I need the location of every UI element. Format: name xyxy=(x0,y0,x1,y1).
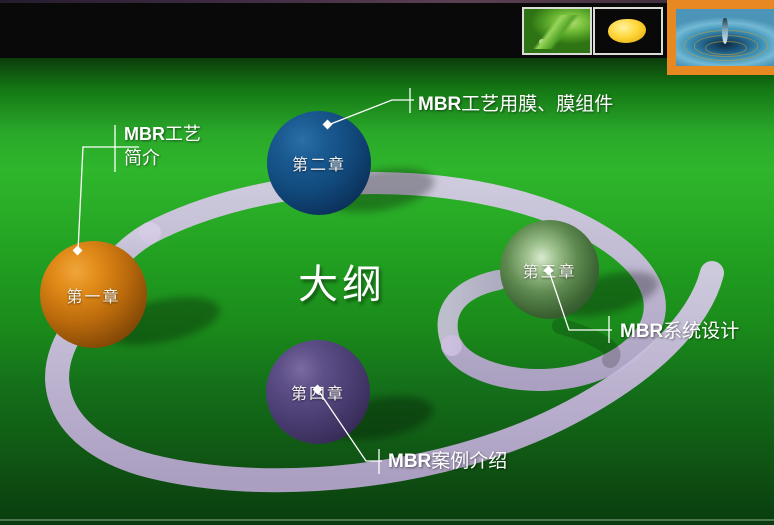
slide-canvas: 第一章 第二章 第三章 第四章 大纲 xyxy=(0,0,774,525)
water-photo-frame xyxy=(667,0,774,75)
callout-chapter-2-bold: MBR xyxy=(418,94,461,115)
green-leaf-icon xyxy=(524,9,590,53)
page-title: 大纲 xyxy=(298,252,386,310)
callout-chapter-1-rest: 工艺 xyxy=(165,124,201,145)
callout-chapter-2-rest: 工艺用膜、膜组件 xyxy=(461,93,613,115)
thumbnail-yellow-flower[interactable] xyxy=(593,7,663,55)
callout-connectors xyxy=(0,0,774,525)
thumbnail-green-leaf[interactable] xyxy=(522,7,592,55)
callout-chapter-4-bold: MBR xyxy=(388,451,431,472)
callout-chapter-1: MBR工艺 简介 xyxy=(124,122,201,172)
photo-strip xyxy=(519,0,667,57)
callout-chapter-4-rest: 案例介绍 xyxy=(431,450,507,472)
callout-chapter-1-line2: 简介 xyxy=(124,147,201,171)
yellow-flower-icon xyxy=(595,9,661,53)
callout-chapter-3: MBR系统设计 xyxy=(620,319,739,345)
callout-chapter-2: MBR工艺用膜、膜组件 xyxy=(418,92,613,118)
water-droplet-icon xyxy=(676,9,774,66)
bottom-edge-band xyxy=(0,521,774,525)
callout-chapter-3-rest: 系统设计 xyxy=(663,320,739,342)
callout-chapter-4: MBR案例介绍 xyxy=(388,449,507,475)
callout-chapter-3-bold: MBR xyxy=(620,321,663,342)
callout-chapter-1-bold: MBR xyxy=(124,124,165,144)
bottom-highlight-line xyxy=(0,519,774,521)
